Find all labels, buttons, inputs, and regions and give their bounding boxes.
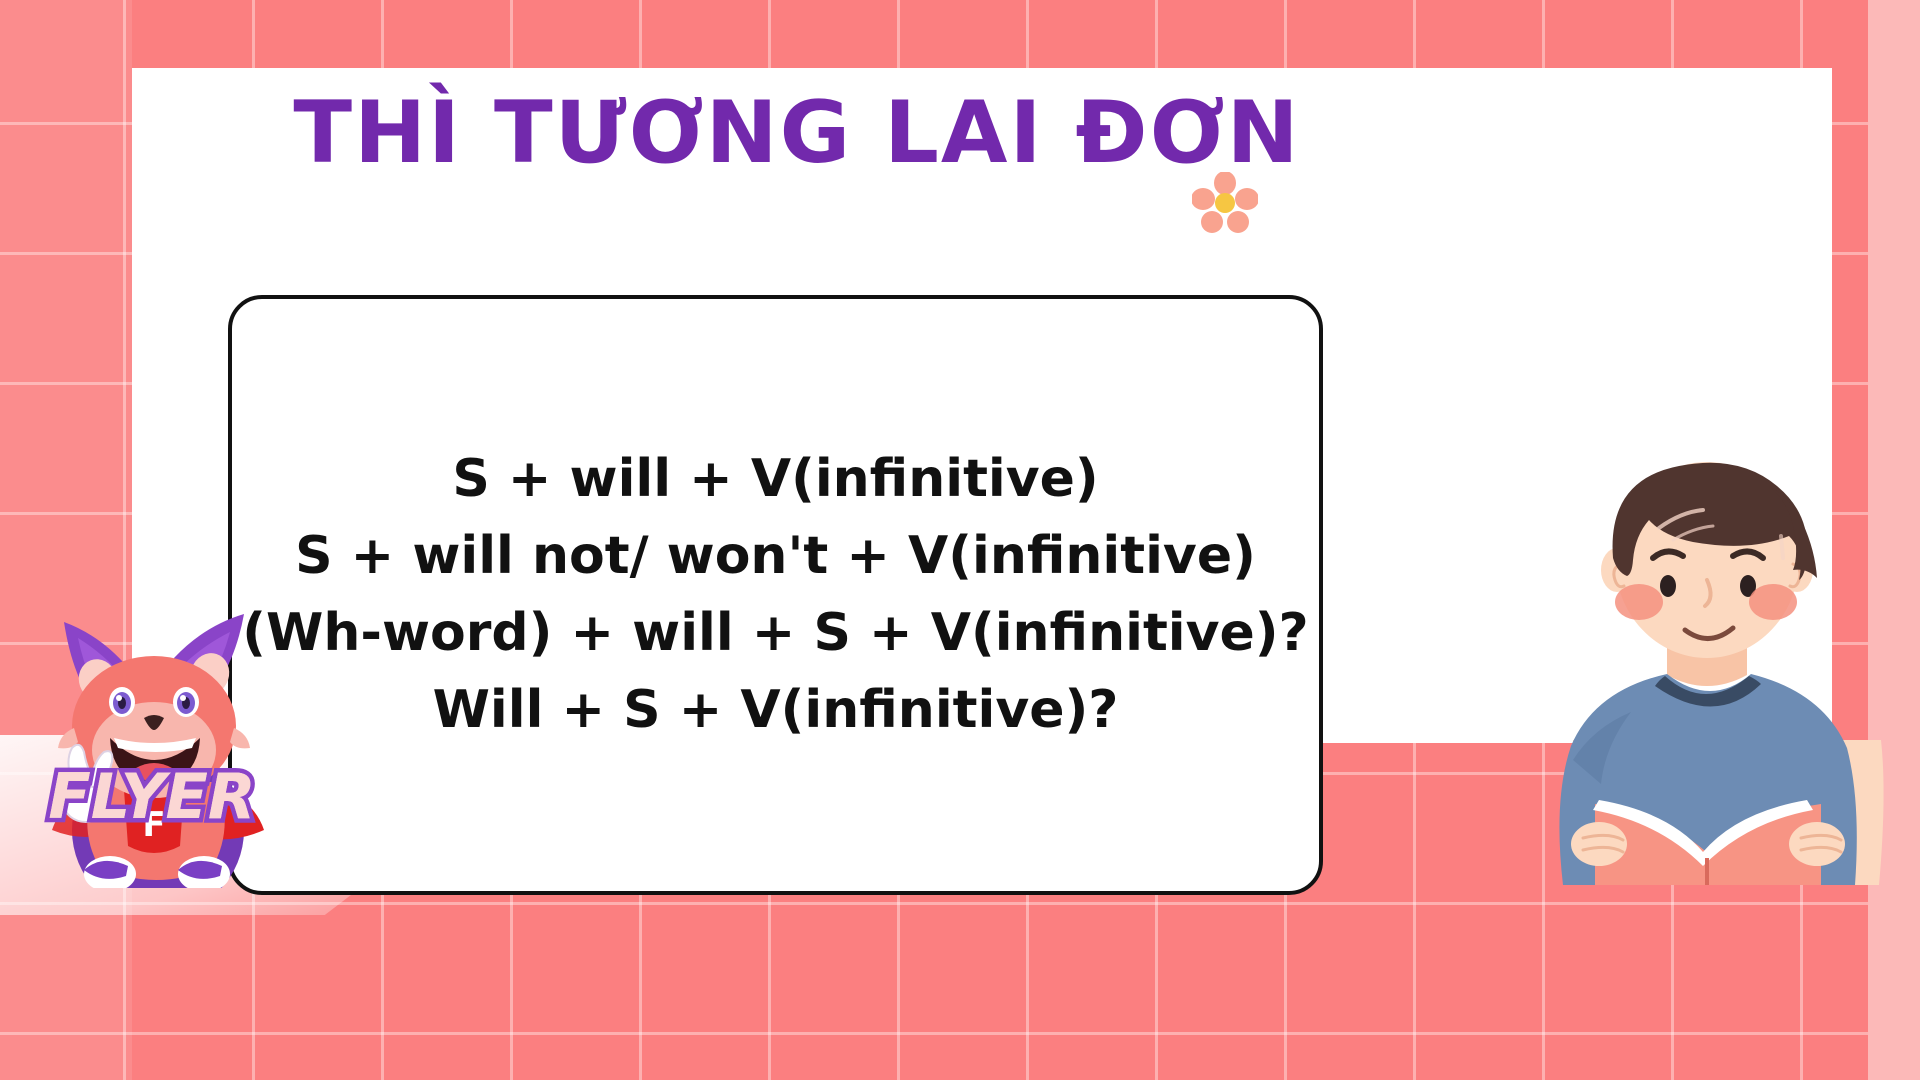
page-title: THÌ TƯƠNG LAI ĐƠN — [132, 88, 1462, 178]
formula-box: S + will + V(infinitive) S + will not/ w… — [228, 295, 1323, 895]
formula-line: S + will + V(infinitive) — [452, 445, 1098, 514]
background-left-wash — [0, 0, 132, 1080]
flyer-wordmark: FLYER FLYER — [28, 748, 276, 844]
flower-icon — [1192, 172, 1258, 234]
formula-line: Will + S + V(infinitive)? — [433, 676, 1119, 745]
svg-text:FLYER: FLYER — [48, 760, 255, 833]
boy-reading-book-illustration — [1555, 440, 1885, 885]
formula-line: (Wh-word) + will + S + V(infinitive)? — [242, 599, 1308, 668]
formula-line: S + will not/ won't + V(infinitive) — [295, 522, 1256, 591]
